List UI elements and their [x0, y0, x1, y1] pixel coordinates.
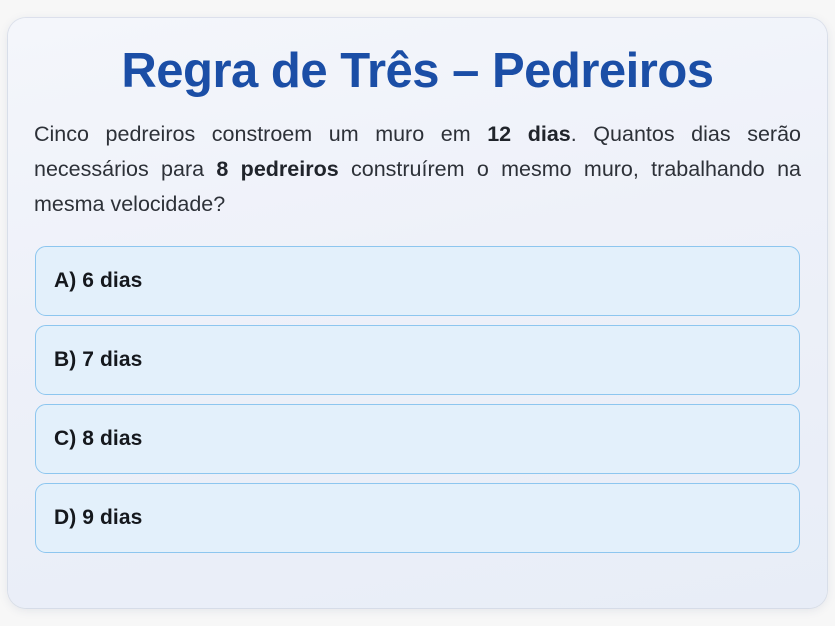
page-title: Regra de Três – Pedreiros — [8, 18, 827, 99]
option-d[interactable]: D) 9 dias — [35, 483, 800, 553]
option-d-label: D) 9 dias — [54, 506, 142, 530]
answer-options-list: A) 6 dias B) 7 dias C) 8 dias D) 9 dias — [8, 221, 827, 553]
option-b-label: B) 7 dias — [54, 348, 142, 372]
option-b[interactable]: B) 7 dias — [35, 325, 800, 395]
question-emphasis: 8 pedreiros — [216, 157, 338, 181]
quiz-card: Regra de Três – Pedreiros Cinco pedreiro… — [8, 18, 827, 608]
option-a[interactable]: A) 6 dias — [35, 246, 800, 316]
question-run: Cinco pedreiros constroem um muro em — [34, 122, 487, 146]
option-a-label: A) 6 dias — [54, 269, 142, 293]
option-c-label: C) 8 dias — [54, 427, 142, 451]
question-text: Cinco pedreiros constroem um muro em 12 … — [8, 99, 827, 221]
option-c[interactable]: C) 8 dias — [35, 404, 800, 474]
question-emphasis: 12 dias — [487, 122, 571, 146]
